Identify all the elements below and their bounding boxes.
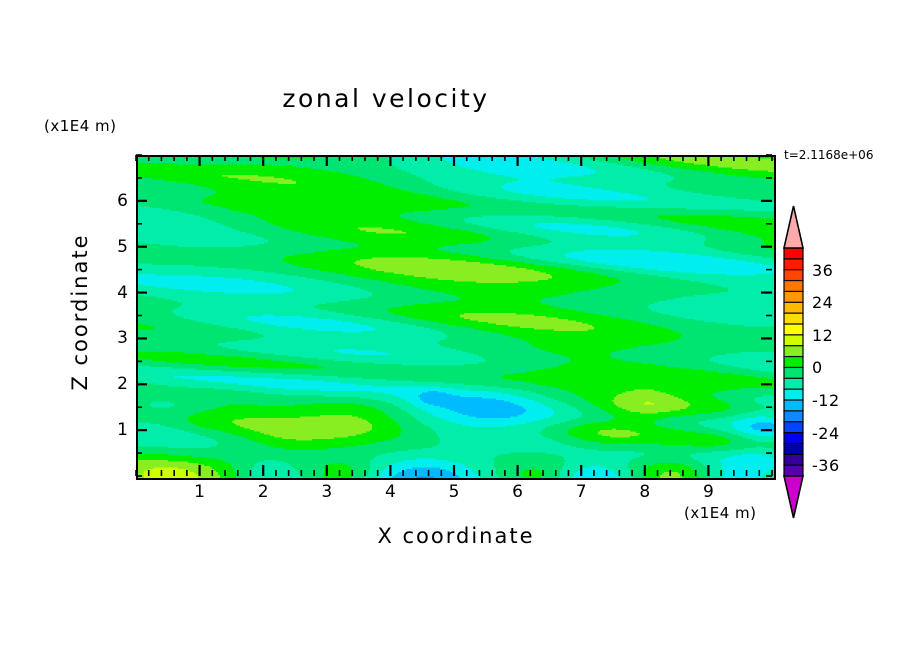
timestamp-label: t=2.1168e+06 [784, 148, 873, 162]
y-axis-title: Z coordinate [68, 202, 92, 422]
x-axis-title: X coordinate [236, 524, 676, 548]
colorbar [780, 204, 814, 520]
x-tick-label: 5 [439, 482, 469, 502]
x-tick-label: 1 [185, 482, 215, 502]
x-tick-label: 2 [248, 482, 278, 502]
y-tick-label: 2 [104, 374, 128, 394]
y-tick-label: 6 [104, 191, 128, 211]
x-tick-label: 4 [375, 482, 405, 502]
colorbar-tick-label: 36 [812, 261, 833, 280]
colorbar-tick-label: 0 [812, 358, 823, 377]
page-title: zonal velocity [0, 84, 772, 113]
colorbar-tick-label: 24 [812, 293, 833, 312]
figure-canvas: zonal velocity (x1E4 m) (x1E4 m) X coord… [0, 0, 904, 654]
colorbar-tick-label: 12 [812, 326, 833, 345]
y-tick-label: 5 [104, 237, 128, 257]
colorbar-tick-label: -12 [812, 391, 840, 410]
x-tick-label: 6 [503, 482, 533, 502]
contour-field [138, 157, 774, 478]
y-axis-unit-label: (x1E4 m) [44, 117, 117, 135]
x-tick-label: 7 [566, 482, 596, 502]
x-tick-label: 3 [312, 482, 342, 502]
y-tick-label: 1 [104, 420, 128, 440]
y-tick-label: 4 [104, 283, 128, 303]
y-tick-label: 3 [104, 328, 128, 348]
colorbar-tick-label: -24 [812, 424, 840, 443]
x-tick-label: 9 [693, 482, 723, 502]
x-axis-unit-label: (x1E4 m) [684, 504, 757, 522]
contour-plot-area [136, 155, 776, 480]
colorbar-tick-label: -36 [812, 456, 840, 475]
x-tick-label: 8 [630, 482, 660, 502]
